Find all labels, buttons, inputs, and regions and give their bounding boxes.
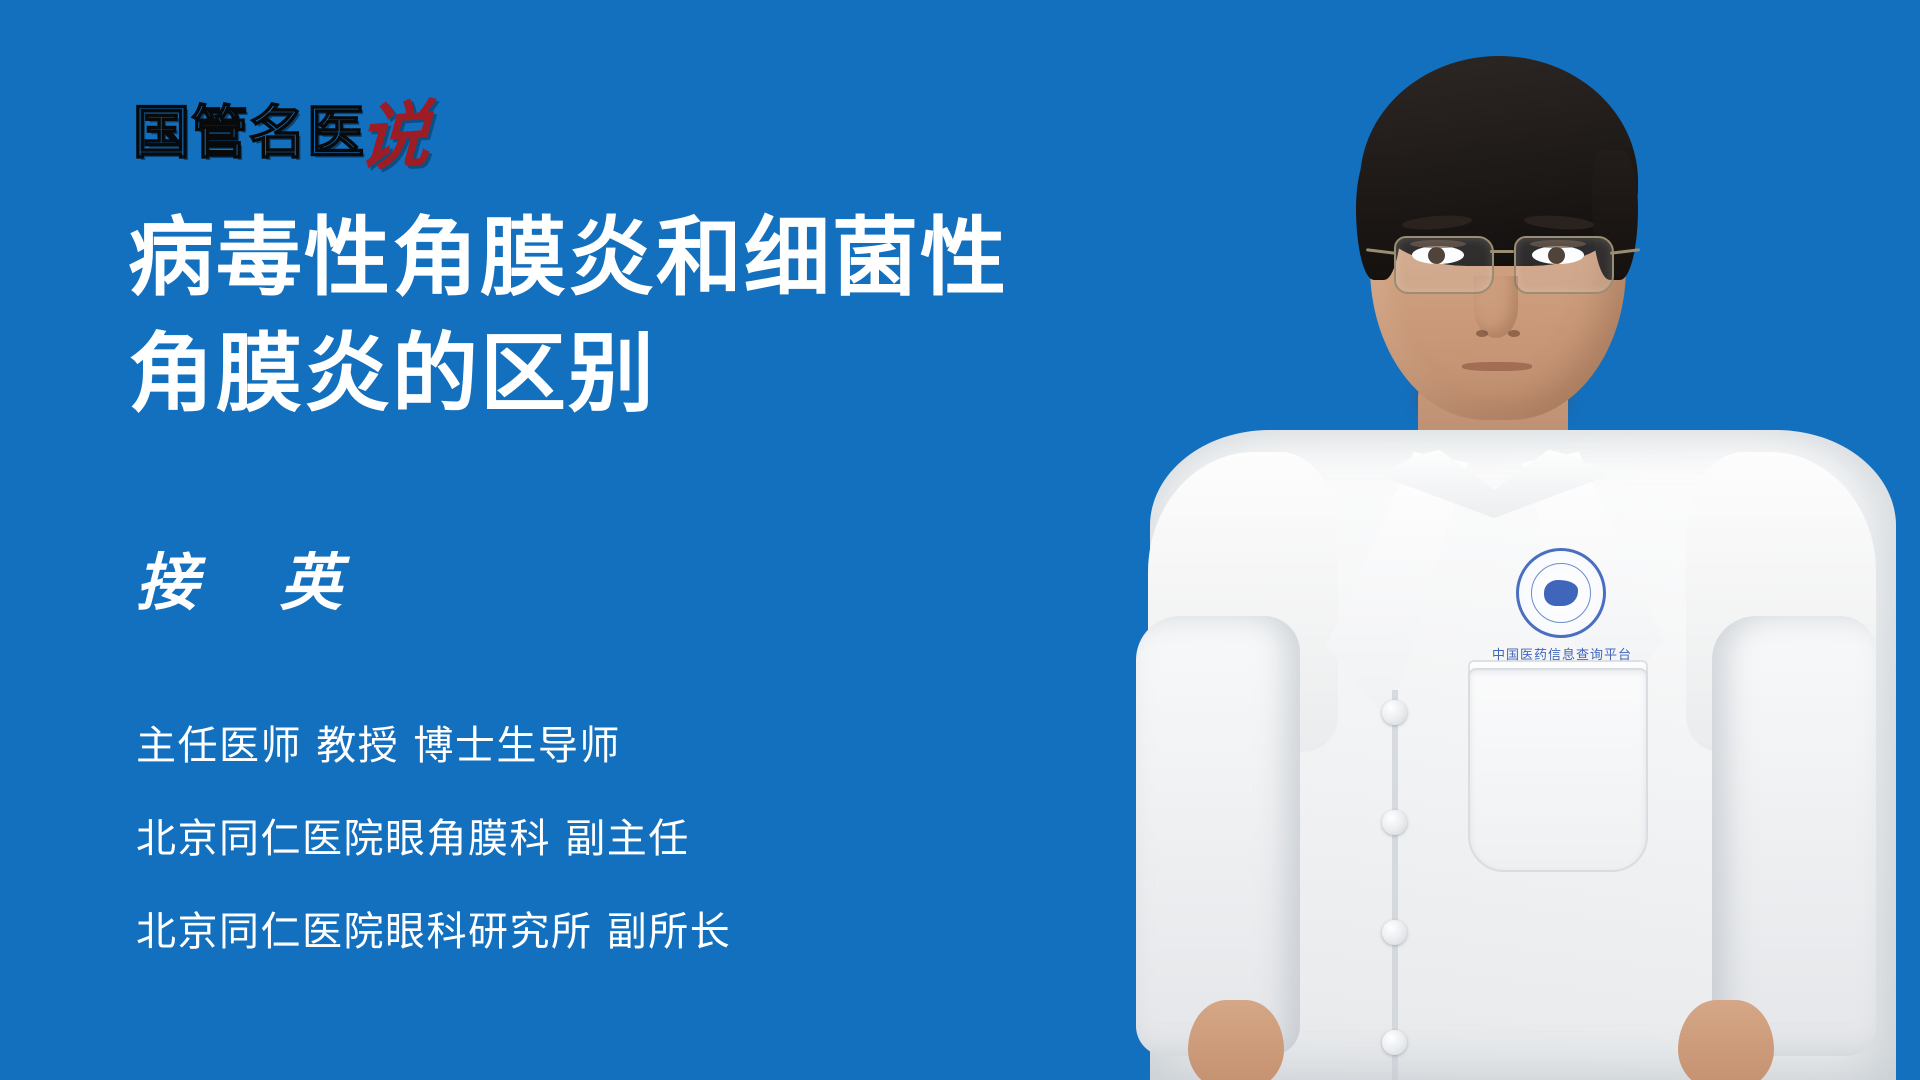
credential-line: 北京同仁医院眼科研究所 副所长 (136, 886, 956, 979)
coat-button (1382, 700, 1407, 725)
coat-sleeve-right (1712, 616, 1876, 1056)
coat-badge-inner-ring (1531, 563, 1591, 623)
nostril-left (1476, 330, 1488, 337)
title-line-2: 角膜炎的区别 (128, 316, 1008, 432)
presenter-name: 接 英 (136, 552, 372, 614)
coat-badge-text: 中国医药信息查询平台 (1478, 644, 1646, 663)
presenter-credentials: 主任医师 教授 博士生导师 北京同仁医院眼角膜科 副主任 北京同仁医院眼科研究所… (136, 700, 956, 979)
program-logo: 国管名医 说 (133, 98, 429, 162)
nostril-right (1508, 330, 1520, 337)
coat-button (1382, 810, 1407, 835)
title-line-1: 病毒性角膜炎和细菌性 (128, 200, 1008, 316)
mouth (1462, 362, 1532, 371)
coat-chest-pocket (1468, 668, 1648, 872)
coat-sleeve-left (1136, 616, 1300, 1056)
coat-button (1382, 1030, 1407, 1055)
hand-right (1678, 1000, 1774, 1080)
glasses-bridge (1490, 250, 1514, 253)
glasses-temple-left (1366, 248, 1396, 255)
coat-badge-emblem (1516, 548, 1606, 638)
glasses-lens-right (1514, 236, 1614, 294)
china-map-icon (1544, 580, 1578, 606)
coat-button (1382, 920, 1407, 945)
credential-line: 北京同仁医院眼角膜科 副主任 (136, 793, 956, 886)
text-column: 国管名医 说 病毒性角膜炎和细菌性 角膜炎的区别 接 英 主任医师 教授 博士生… (0, 0, 1010, 1080)
hand-left (1188, 1000, 1284, 1080)
program-logo-accent-text: 说 (357, 104, 431, 168)
page-title: 病毒性角膜炎和细菌性 角膜炎的区别 (128, 200, 1008, 432)
video-cover-slide: 国管名医 说 病毒性角膜炎和细菌性 角膜炎的区别 接 英 主任医师 教授 博士生… (0, 0, 1920, 1080)
nose (1474, 276, 1518, 338)
glasses-temple-right (1610, 248, 1640, 255)
credential-line: 主任医师 教授 博士生导师 (136, 700, 956, 793)
doctor-portrait-photo: 中国医药信息查询平台 (1130, 0, 1920, 1080)
coat-placket (1392, 690, 1398, 1080)
program-logo-main-text: 国管名医 (133, 105, 367, 162)
